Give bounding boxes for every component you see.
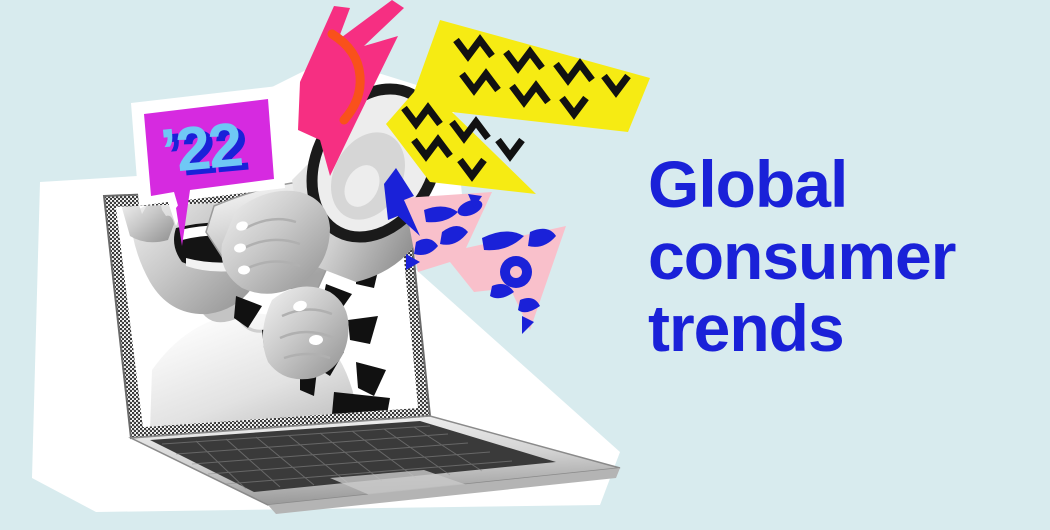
headline-line-2: consumer [648,220,1038,292]
headline-line-3: trends [648,292,1038,364]
collage-artwork: ’22 ’22 [0,0,660,530]
headline-line-1: Global [648,148,1038,220]
bubble-year: ’22 [158,110,244,186]
speech-bubble-text: ’22 [157,105,284,196]
yellow-zigzag-bolt [386,20,650,194]
banner-root: ’22 ’22 Global consumer trends [0,0,1050,530]
page-title: Global consumer trends [648,148,1038,364]
